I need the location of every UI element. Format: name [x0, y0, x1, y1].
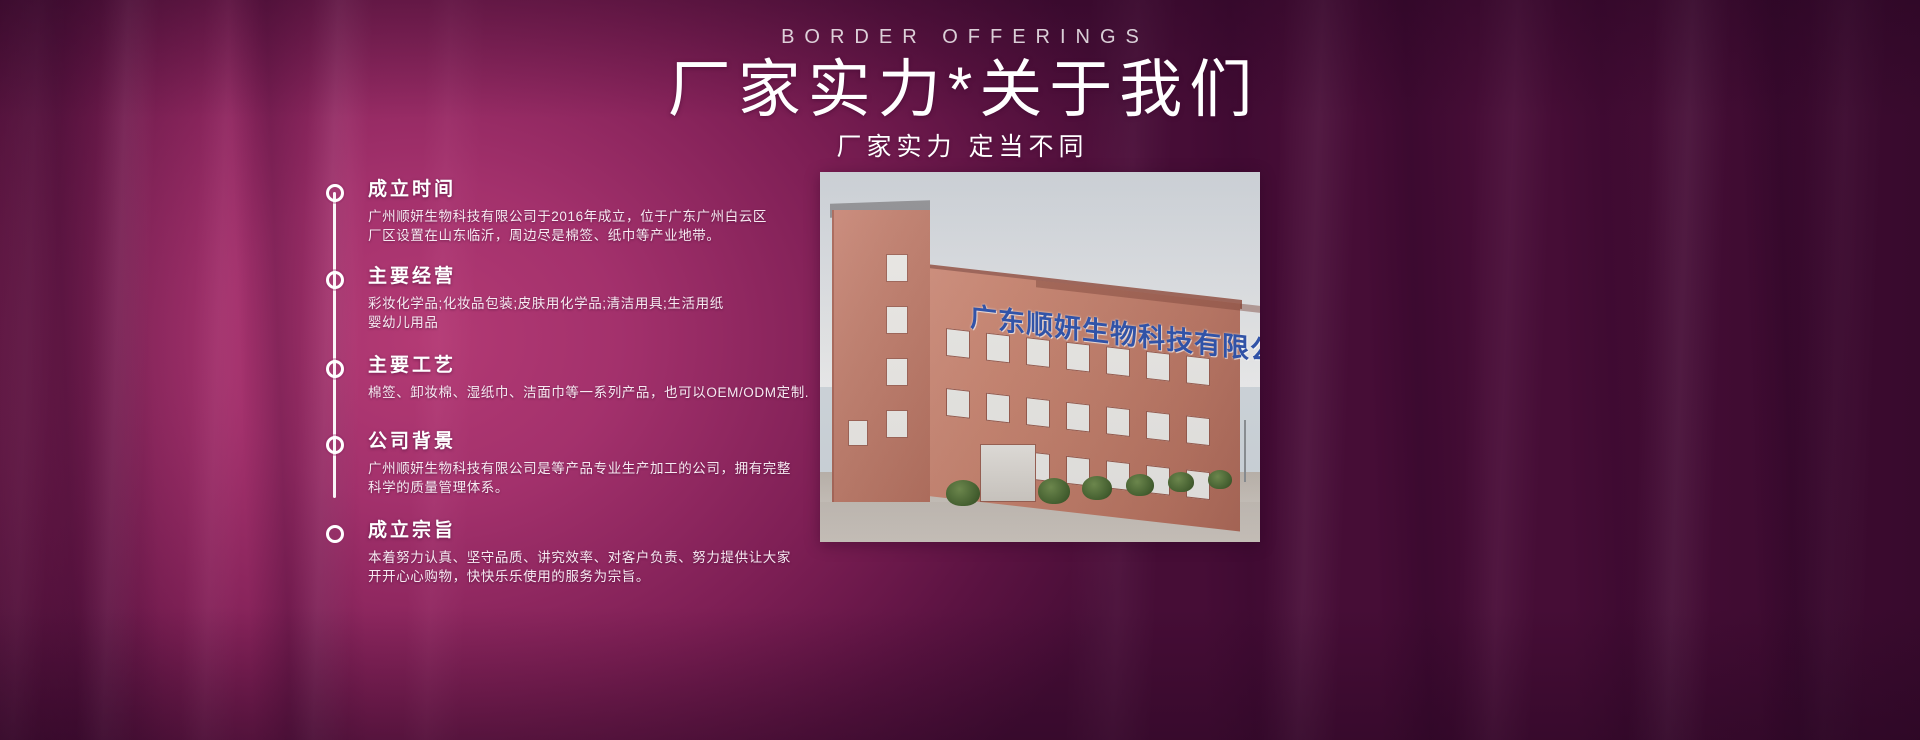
- page-subtitle: 厂家实力 定当不同: [0, 127, 1920, 163]
- timeline-dot-icon: [326, 525, 344, 543]
- timeline-body-line: 广州顺妍生物科技有限公司是等产品专业生产加工的公司，拥有完整: [368, 459, 796, 478]
- timeline-body: 广州顺妍生物科技有限公司于2016年成立，位于广东广州白云区 厂区设置在山东临沂…: [368, 207, 796, 245]
- photo-bush: [1168, 472, 1194, 492]
- photo-window: [946, 328, 970, 359]
- timeline-body-line: 广州顺妍生物科技有限公司于2016年成立，位于广东广州白云区: [368, 207, 796, 226]
- timeline-heading: 成立宗旨: [368, 519, 796, 543]
- photo-window-row: [928, 386, 1240, 448]
- timeline-item-company-background: 公司背景 广州顺妍生物科技有限公司是等产品专业生产加工的公司，拥有完整 科学的质…: [326, 430, 796, 497]
- timeline-body-line: 开开心心购物，快快乐乐使用的服务为宗旨。: [368, 567, 796, 586]
- banner-header: BORDER OFFERINGS 厂家实力*关于我们 厂家实力 定当不同: [0, 0, 1920, 163]
- photo-building-tower: [832, 210, 930, 502]
- photo-bush: [946, 480, 980, 506]
- photo-window: [886, 358, 908, 386]
- photo-bush: [1038, 478, 1070, 504]
- photo-window: [1066, 402, 1090, 433]
- timeline-body-line: 婴幼儿用品: [368, 313, 796, 332]
- banner-stage: BORDER OFFERINGS 厂家实力*关于我们 厂家实力 定当不同 成立时…: [0, 0, 1920, 740]
- photo-bush: [1082, 476, 1112, 500]
- timeline-body-line: 厂区设置在山东临沂，周边尽是棉签、纸巾等产业地带。: [368, 226, 796, 245]
- company-timeline: 成立时间 广州顺妍生物科技有限公司于2016年成立，位于广东广州白云区 厂区设置…: [326, 178, 796, 586]
- photo-window: [886, 410, 908, 438]
- photo-window: [1106, 406, 1130, 437]
- photo-window: [986, 393, 1010, 424]
- factory-photo: 广东顺妍生物科技有限公司: [820, 172, 1260, 542]
- timeline-dot-icon: [326, 271, 344, 289]
- timeline-heading: 公司背景: [368, 430, 796, 454]
- timeline-item-founding-purpose: 成立宗旨 本着努力认真、坚守品质、讲究效率、对客户负责、努力提供让大家 开开心心…: [326, 519, 796, 586]
- timeline-item-founding-time: 成立时间 广州顺妍生物科技有限公司于2016年成立，位于广东广州白云区 厂区设置…: [326, 178, 796, 245]
- timeline-body-line: 棉签、卸妆棉、湿纸巾、洁面巾等一系列产品，也可以OEM/ODM定制.: [368, 383, 796, 402]
- photo-bush: [1126, 474, 1154, 496]
- timeline-item-main-craft: 主要工艺 棉签、卸妆棉、湿纸巾、洁面巾等一系列产品，也可以OEM/ODM定制.: [326, 354, 796, 402]
- photo-window: [1186, 415, 1210, 446]
- timeline-body-line: 本着努力认真、坚守品质、讲究效率、对客户负责、努力提供让大家: [368, 548, 796, 567]
- eyebrow-text: BORDER OFFERINGS: [0, 26, 1920, 49]
- timeline-body: 本着努力认真、坚守品质、讲究效率、对客户负责、努力提供让大家 开开心心购物，快快…: [368, 548, 796, 586]
- timeline-heading: 成立时间: [368, 178, 796, 202]
- timeline-heading: 主要经营: [368, 265, 796, 289]
- timeline-body-line: 科学的质量管理体系。: [368, 478, 796, 497]
- timeline-body: 广州顺妍生物科技有限公司是等产品专业生产加工的公司，拥有完整 科学的质量管理体系…: [368, 459, 796, 497]
- timeline-dot-icon: [326, 184, 344, 202]
- timeline-item-main-business: 主要经营 彩妆化学品;化妆品包装;皮肤用化学品;清洁用具;生活用纸 婴幼儿用品: [326, 265, 796, 332]
- photo-light-pole: [1244, 420, 1246, 482]
- timeline-body: 彩妆化学品;化妆品包装;皮肤用化学品;清洁用具;生活用纸 婴幼儿用品: [368, 294, 796, 332]
- timeline-dot-icon: [326, 436, 344, 454]
- photo-window: [886, 254, 908, 282]
- photo-bush: [1208, 470, 1232, 489]
- photo-window: [1146, 411, 1170, 442]
- photo-window: [946, 388, 970, 419]
- timeline-body: 棉签、卸妆棉、湿纸巾、洁面巾等一系列产品，也可以OEM/ODM定制.: [368, 383, 796, 402]
- timeline-heading: 主要工艺: [368, 354, 796, 378]
- page-title: 厂家实力*关于我们: [0, 55, 1920, 125]
- photo-window: [1026, 397, 1050, 428]
- timeline-dot-icon: [326, 360, 344, 378]
- photo-window: [848, 420, 868, 446]
- photo-garage-door: [980, 444, 1036, 502]
- timeline-body-line: 彩妆化学品;化妆品包装;皮肤用化学品;清洁用具;生活用纸: [368, 294, 796, 313]
- photo-window: [886, 306, 908, 334]
